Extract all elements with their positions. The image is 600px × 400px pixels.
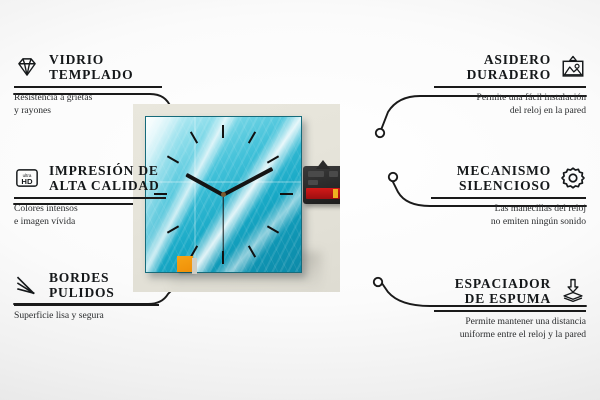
feature-divider bbox=[14, 86, 162, 88]
feature-title-line1: ASIDERO bbox=[467, 52, 551, 67]
second-hand bbox=[222, 195, 223, 257]
feature-title-line1: IMPRESIÓN DE bbox=[49, 163, 160, 178]
arrow-onto-layers-icon bbox=[560, 278, 586, 304]
feature-heading: MECANISMO SILENCIOSO bbox=[431, 163, 586, 193]
feature-title: ASIDERO DURADERO bbox=[467, 52, 551, 82]
feature-description: Las manecillas del reloj no emiten ningú… bbox=[431, 203, 586, 229]
hour-tick bbox=[222, 125, 224, 138]
feature-bordes-pulidos: BORDES PULIDOS Superficie lisa y segura bbox=[14, 270, 159, 323]
feature-desc-line1: Resistencia a grietas bbox=[14, 92, 162, 105]
foam-spacer-edge bbox=[192, 258, 197, 274]
feature-desc-line2: uniforme entre el reloj y la pared bbox=[434, 329, 586, 342]
feature-title: MECANISMO SILENCIOSO bbox=[457, 163, 551, 193]
feature-heading: ultra HD IMPRESIÓN DE ALTA CALIDAD bbox=[14, 163, 166, 193]
feature-title-line1: VIDRIO bbox=[49, 52, 133, 67]
feature-title-line2: SILENCIOSO bbox=[457, 178, 551, 193]
feature-desc-line2: y rayones bbox=[14, 105, 162, 118]
feature-desc-line1: Las manecillas del reloj bbox=[431, 203, 586, 216]
feature-desc-line1: Superficie lisa y segura bbox=[14, 310, 159, 323]
battery-terminal bbox=[333, 189, 338, 198]
feature-asidero-duradero: ASIDERO DURADERO Permite una fácil insta… bbox=[434, 52, 586, 118]
feature-heading: ASIDERO DURADERO bbox=[434, 52, 586, 82]
wire-node-mecanismo bbox=[389, 173, 397, 181]
hands-center-pin bbox=[221, 192, 226, 197]
wire-node-espaciador bbox=[374, 278, 382, 286]
feature-heading: BORDES PULIDOS bbox=[14, 270, 159, 300]
feature-description: Colores intensos e imagen vívida bbox=[14, 203, 166, 229]
infographic-canvas: VIDRIO TEMPLADO Resistencia a grietas y … bbox=[0, 0, 600, 400]
feature-title-line2: TEMPLADO bbox=[49, 67, 133, 82]
feature-title-line2: ALTA CALIDAD bbox=[49, 178, 160, 193]
feature-description: Resistencia a grietas y rayones bbox=[14, 92, 162, 118]
feature-desc-line1: Colores intensos bbox=[14, 203, 166, 216]
feature-mecanismo-silencioso: MECANISMO SILENCIOSO Las manecillas del … bbox=[431, 163, 586, 229]
gear-icon bbox=[560, 165, 586, 191]
feature-desc-line2: del reloj en la pared bbox=[434, 105, 586, 118]
feature-divider bbox=[14, 304, 159, 306]
feature-description: Permite una fácil instalación del reloj … bbox=[434, 92, 586, 118]
feature-vidrio-templado: VIDRIO TEMPLADO Resistencia a grietas y … bbox=[14, 52, 162, 118]
diagonal-lines-icon bbox=[14, 272, 40, 298]
svg-text:HD: HD bbox=[21, 177, 33, 186]
feature-heading: VIDRIO TEMPLADO bbox=[14, 52, 162, 82]
feature-desc-line2: no emiten ningún sonido bbox=[431, 216, 586, 229]
wall-clock-panel bbox=[145, 116, 302, 273]
feature-desc-line1: Permite mantener una distancia bbox=[434, 316, 586, 329]
mechanism-battery bbox=[306, 188, 340, 199]
feature-divider bbox=[434, 86, 586, 88]
feature-description: Permite mantener una distancia uniforme … bbox=[434, 316, 586, 342]
mechanism-slot bbox=[308, 171, 324, 177]
feature-title-line2: DURADERO bbox=[467, 67, 551, 82]
feature-title: ESPACIADOR DE ESPUMA bbox=[455, 276, 551, 306]
feature-impresion-alta-calidad: ultra HD IMPRESIÓN DE ALTA CALIDAD Color… bbox=[14, 163, 166, 229]
feature-title: IMPRESIÓN DE ALTA CALIDAD bbox=[49, 163, 160, 193]
feature-title: BORDES PULIDOS bbox=[49, 270, 115, 300]
feature-divider bbox=[14, 197, 166, 199]
feature-desc-line2: e imagen vívida bbox=[14, 216, 166, 229]
hanging-picture-frame-icon bbox=[560, 54, 586, 80]
feature-title-line2: PULIDOS bbox=[49, 285, 115, 300]
mechanism-body bbox=[303, 166, 340, 204]
feature-title-line1: ESPACIADOR bbox=[455, 276, 551, 291]
feature-divider bbox=[434, 310, 586, 312]
hour-tick bbox=[280, 193, 293, 195]
feature-title: VIDRIO TEMPLADO bbox=[49, 52, 133, 82]
wire-node-asidero bbox=[376, 129, 384, 137]
feature-description: Superficie lisa y segura bbox=[14, 310, 159, 323]
ultra-hd-badge-icon: ultra HD bbox=[14, 165, 40, 191]
feature-title-line1: MECANISMO bbox=[457, 163, 551, 178]
mechanism-slot bbox=[308, 180, 318, 185]
feature-title-line2: DE ESPUMA bbox=[455, 291, 551, 306]
feature-espaciador-de-espuma: ESPACIADOR DE ESPUMA Permite mantener un… bbox=[434, 276, 586, 342]
feature-divider bbox=[431, 197, 586, 199]
feature-heading: ESPACIADOR DE ESPUMA bbox=[434, 276, 586, 306]
diamond-icon bbox=[14, 54, 40, 80]
foam-spacer-pad bbox=[177, 256, 193, 272]
feature-desc-line1: Permite una fácil instalación bbox=[434, 92, 586, 105]
mechanism-slot bbox=[329, 171, 338, 177]
feature-title-line1: BORDES bbox=[49, 270, 115, 285]
